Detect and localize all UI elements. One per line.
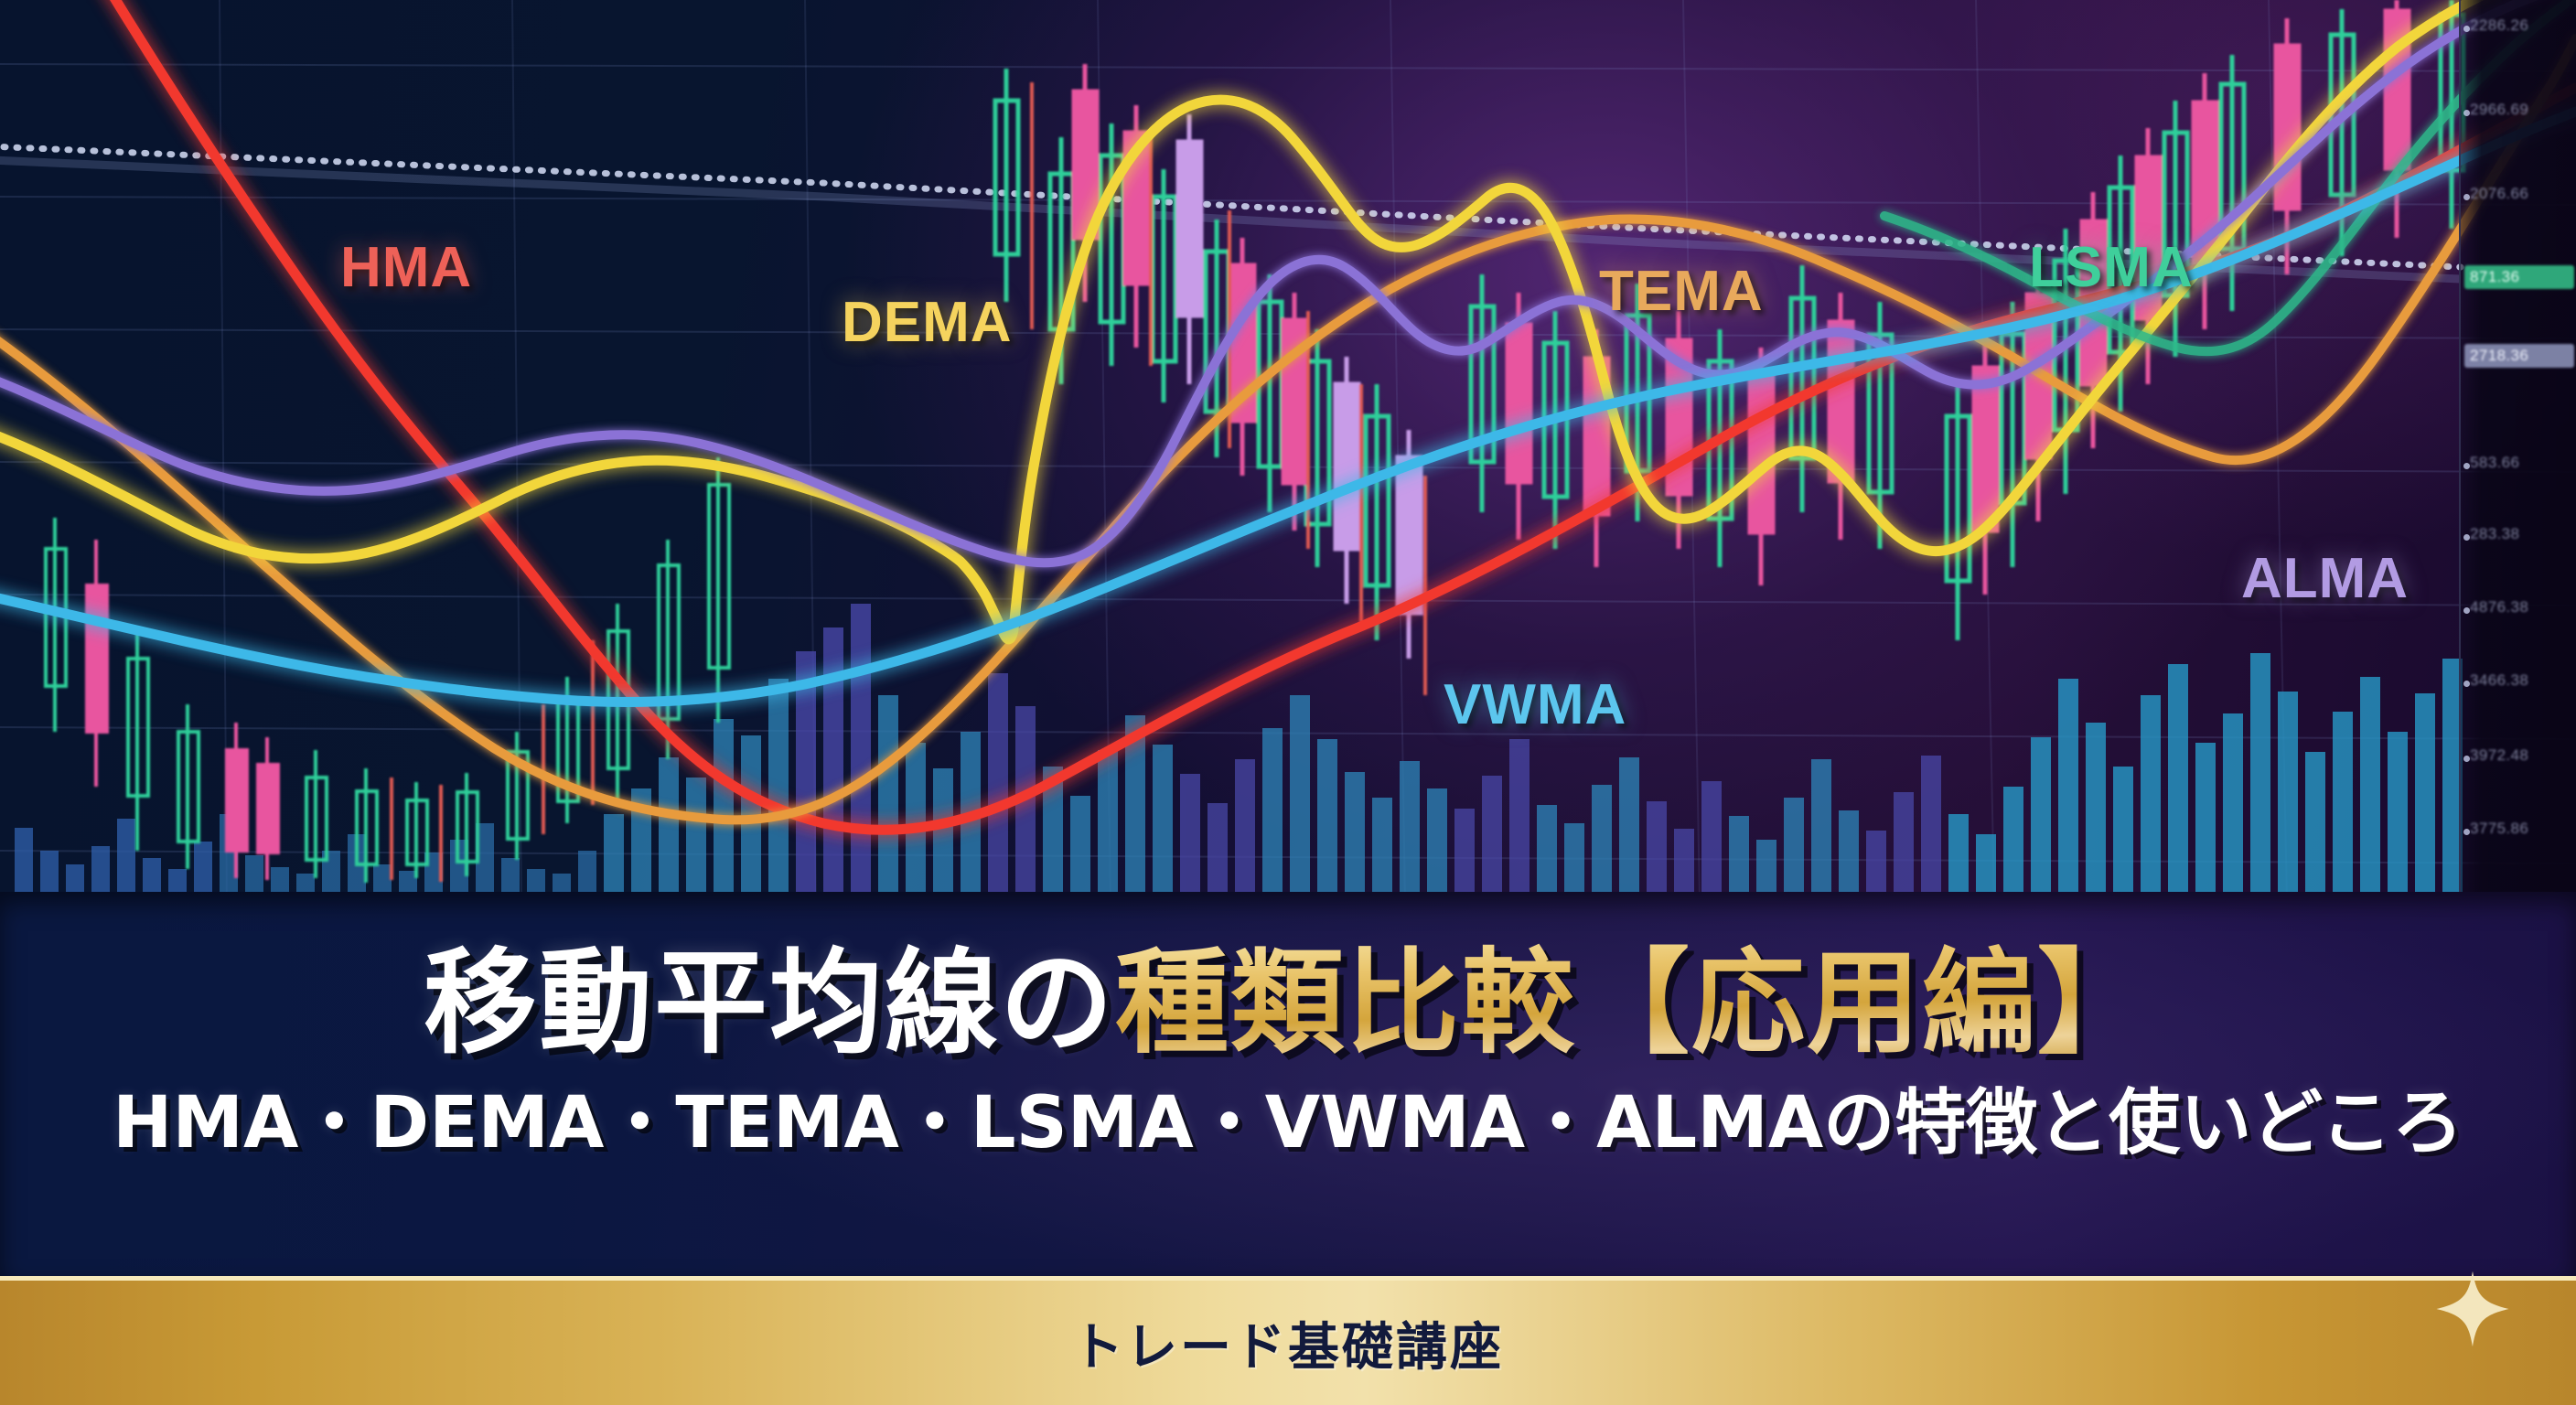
trading-chart-background: 2286.26 2966.69 2076.66 871.36 2718.36 5… (0, 0, 2576, 901)
page-title: 移動平均線の種類比較【応用編】 (0, 910, 2576, 1075)
price-axis-cursor-badge: 2718.36 (2464, 344, 2574, 368)
chart-label-alma: ALMA (2241, 551, 2409, 607)
page-subtitle: HMA・DEMA・TEMA・LSMA・VWMA・ALMAの特徴と使いどころ (0, 1066, 2576, 1168)
footer-gold-bar: トレード基礎講座 (0, 1276, 2576, 1405)
chart-label-lsma: LSMA (2029, 240, 2194, 296)
chart-label-tema: TEMA (1599, 263, 1764, 320)
title-gold-part: 種類比較【応用編】 (1115, 938, 2152, 1069)
price-chart-svg (0, 0, 2576, 901)
thumbnail-image: 2286.26 2966.69 2076.66 871.36 2718.36 5… (0, 0, 2576, 1405)
title-banner: 移動平均線の種類比較【応用編】 HMA・DEMA・TEMA・LSMA・VWMA・… (0, 892, 2576, 1276)
chart-label-dema: DEMA (842, 295, 1013, 351)
title-white-part: 移動平均線の (424, 938, 1115, 1069)
chart-label-hma: HMA (340, 240, 472, 296)
volume-bars (15, 604, 2463, 901)
price-axis-current-badge: 871.36 (2464, 265, 2574, 289)
chart-label-vwma: VWMA (1444, 677, 1626, 734)
four-point-sparkle-icon (2433, 1270, 2512, 1348)
footer-label: トレード基礎講座 (1072, 1306, 1504, 1380)
price-axis: 2286.26 2966.69 2076.66 871.36 2718.36 5… (2459, 0, 2576, 901)
